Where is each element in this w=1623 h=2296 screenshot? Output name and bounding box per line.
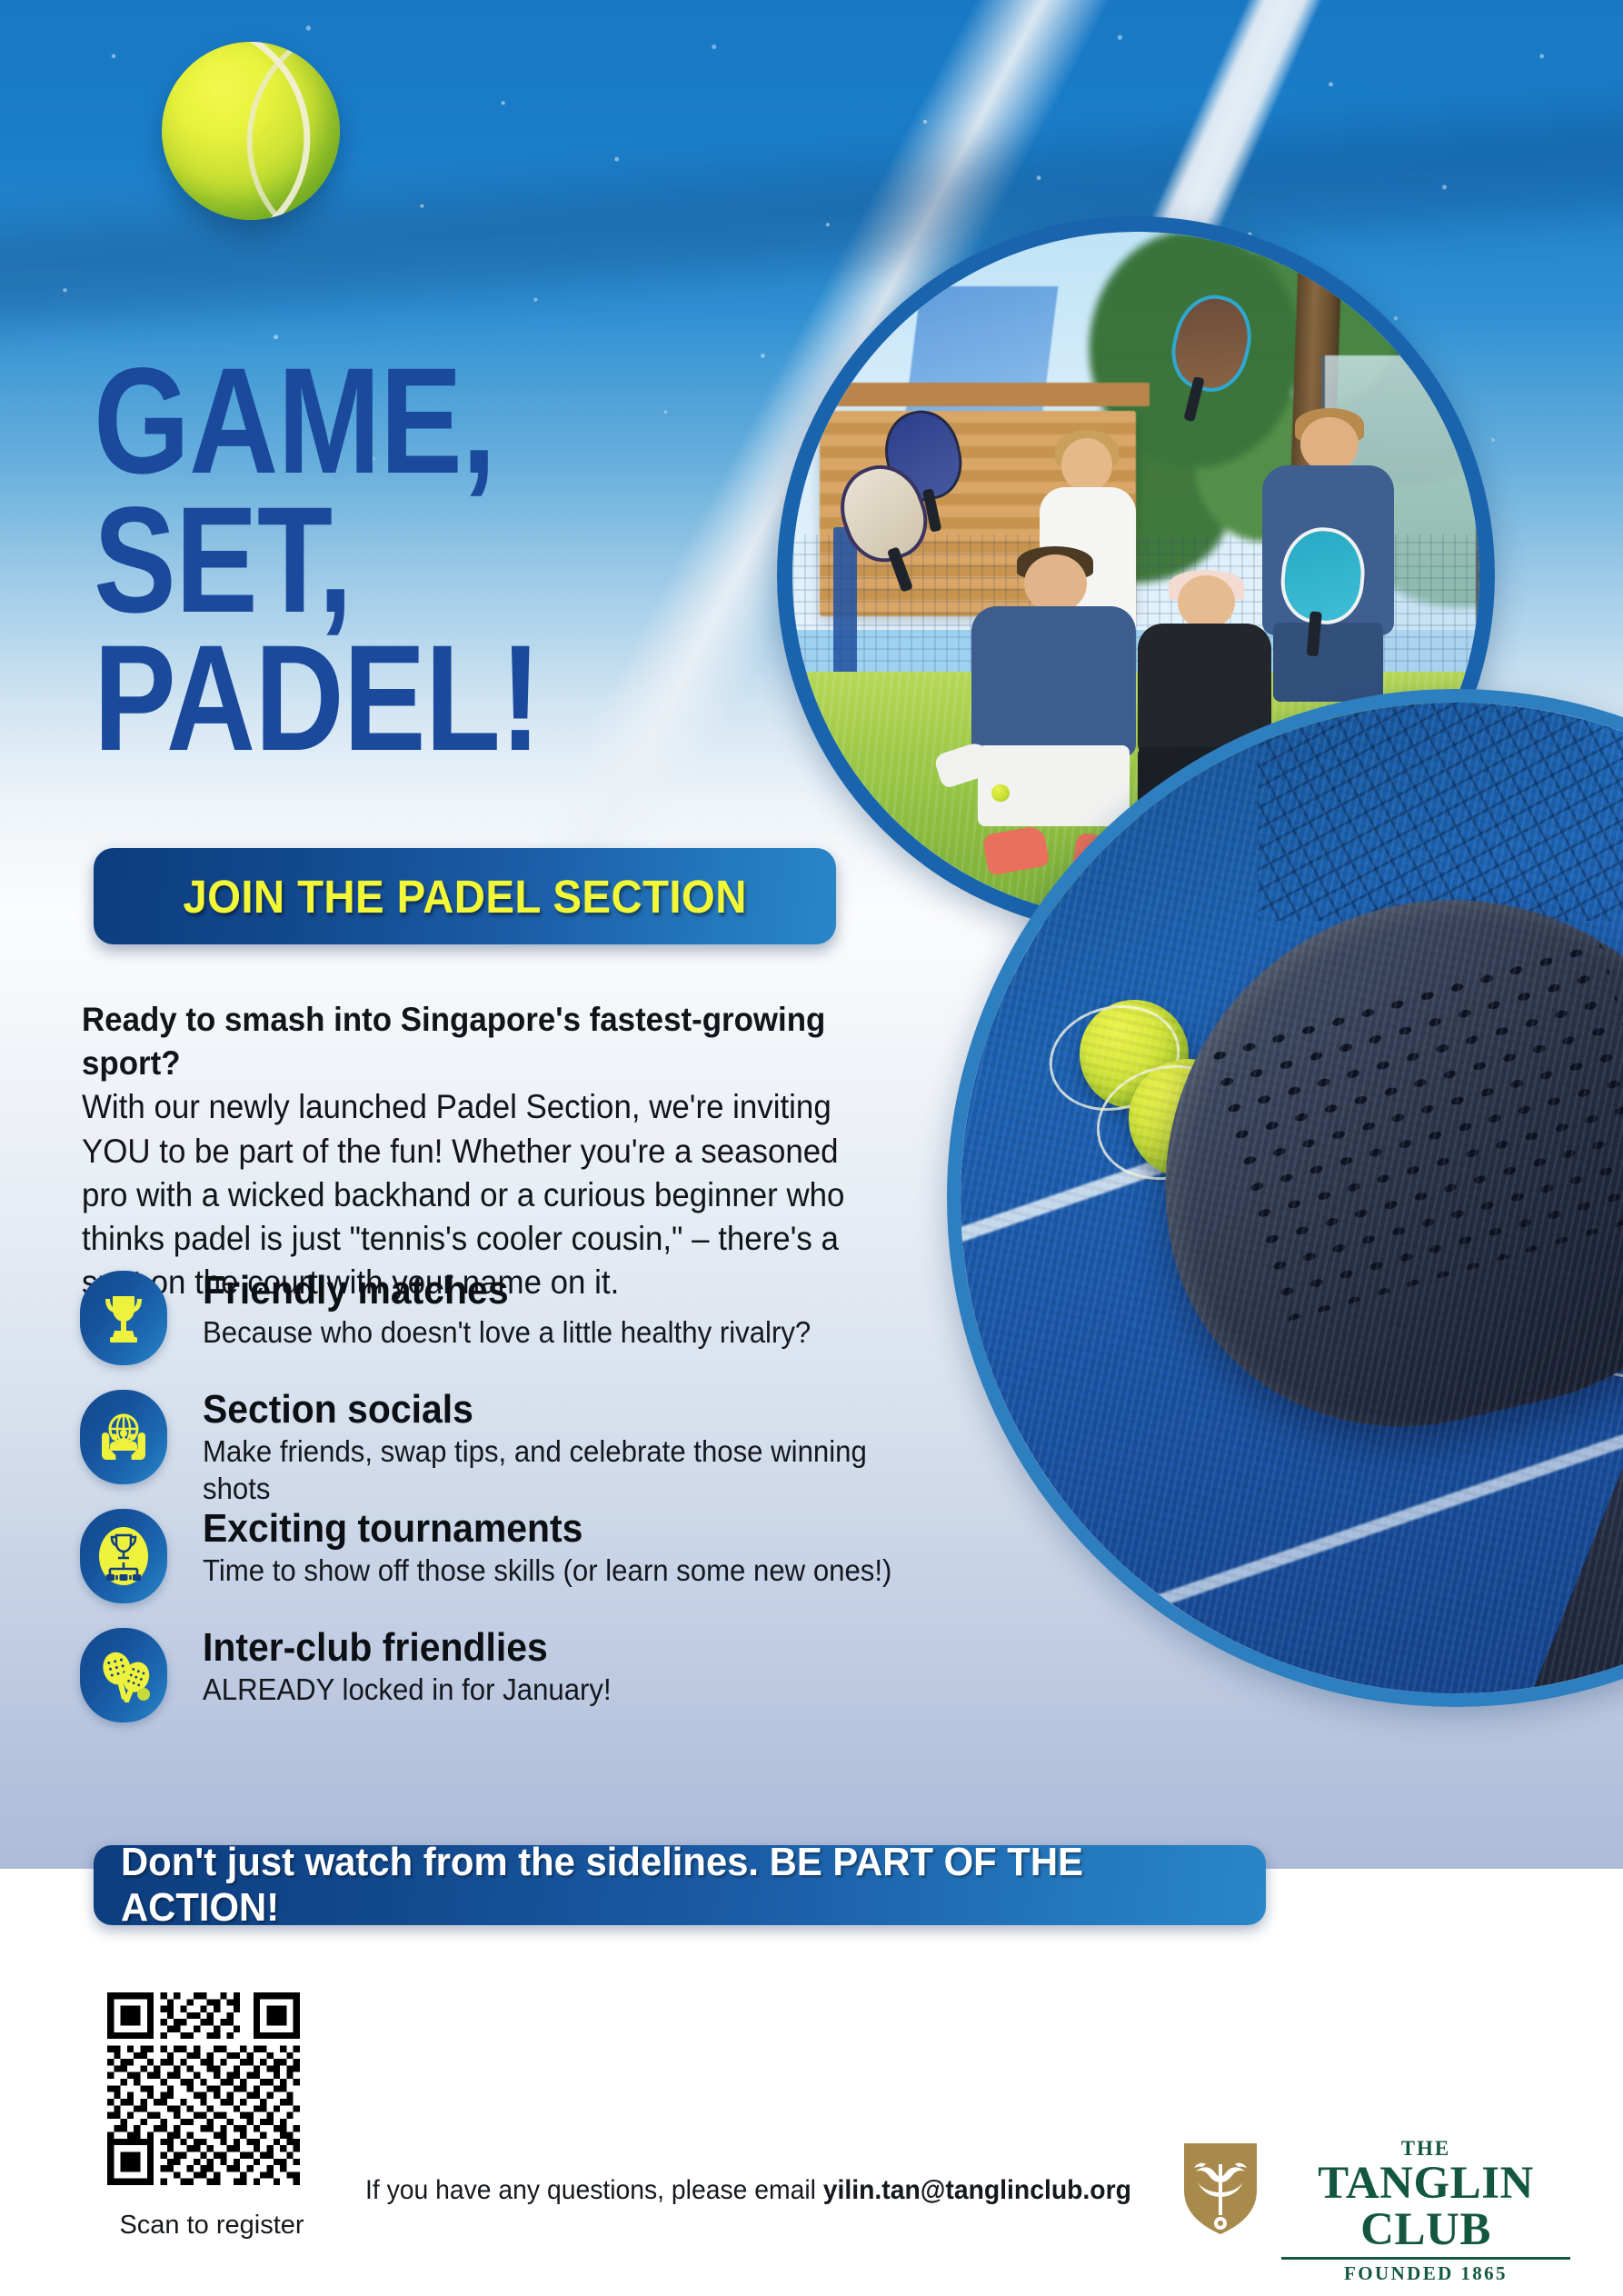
court-line-upper [961,830,1623,1263]
feature-desc: Time to show off those skills (or learn … [203,1553,891,1591]
racket-grip [1585,1561,1623,1693]
racket-holes [1200,933,1623,1324]
trophy-icon [80,1271,167,1365]
head [1300,417,1358,472]
qr-code-image [107,1992,300,2185]
page-title: GAME, SET, PADEL! [94,353,541,769]
feature-title: Inter-club friendlies [203,1624,612,1671]
cabin-roof [806,383,1150,406]
contact-prefix: If you have any questions, please email [365,2175,823,2205]
tennis-ball-7 [1605,1248,1623,1377]
padel-racket-photo [947,689,1623,1707]
feature-desc: ALREADY locked in for January! [203,1672,612,1710]
qr-code[interactable] [98,1983,309,2194]
list-item: Exciting tournaments Time to show off th… [80,1509,989,1628]
list-item: Section socials Make friends, swap tips,… [80,1390,989,1509]
banner-text: Don't just watch from the sidelines. BE … [121,1840,1209,1931]
tennis-ball-1 [1080,1000,1189,1109]
court-shadow [961,703,1623,1079]
poster-root: GAME, SET, PADEL! JOIN THE PADEL SECTION… [0,0,1623,2296]
contact-email[interactable]: yilin.tan@tanglinclub.org [823,2175,1131,2205]
club-crest-icon [1181,2141,1260,2237]
tournament-bracket-icon [80,1509,167,1603]
racket-teal [1275,524,1361,654]
head [1061,438,1112,492]
racket-neck [1518,1413,1623,1693]
tanglin-club-logo: THE TANGLIN CLUB FOUNDED 1865 [1181,2137,1572,2244]
logo-founded: FOUNDED 1865 [1276,2262,1576,2285]
contact-line: If you have any questions, please email … [365,2175,1131,2206]
racket-face [1108,843,1623,1473]
feature-title: Section socials [203,1386,933,1433]
tennis-ball-2 [1129,1059,1248,1178]
hands-globe-icon [80,1390,167,1484]
tennis-ball-icon [162,42,340,220]
court-net-shadow [1258,703,1623,921]
padel-racket [1108,843,1623,1473]
feature-text: Inter-club friendlies ALREADY locked in … [203,1624,612,1710]
feature-text: Exciting tournaments Time to show off th… [203,1505,891,1591]
join-padel-section-button[interactable]: JOIN THE PADEL SECTION [94,848,836,944]
feature-title: Exciting tournaments [203,1505,891,1552]
list-item: Inter-club friendlies ALREADY locked in … [80,1628,989,1747]
intro-paragraph: Ready to smash into Singapore's fastest-… [82,997,860,1303]
racket-photo-inner [961,703,1623,1693]
intro-lead: Ready to smash into Singapore's fastest-… [82,1000,825,1082]
list-item: Friendly matches Because who doesn't lov… [80,1271,989,1390]
feature-desc: Because who doesn't love a little health… [203,1315,811,1353]
court-line-lower [961,1266,1623,1693]
logo-text: THE TANGLIN CLUB FOUNDED 1865 [1276,2137,1576,2285]
feature-text: Section socials Make friends, swap tips,… [203,1386,933,1509]
feature-title: Friendly matches [203,1267,811,1313]
tennis-ball-seam [162,42,340,220]
feature-text: Friendly matches Because who doesn't lov… [203,1267,811,1353]
head [1178,575,1235,629]
call-to-action-banner: Don't just watch from the sidelines. BE … [94,1845,1266,1925]
logo-rule [1281,2257,1570,2260]
feature-list: Friendly matches Because who doesn't lov… [80,1271,989,1747]
padel-rackets-icon [80,1628,167,1722]
head [1024,554,1087,613]
logo-name: TANGLIN CLUB [1276,2161,1576,2253]
feature-desc: Make friends, swap tips, and celebrate t… [203,1434,933,1509]
qr-caption: Scan to register [98,2211,325,2241]
join-padel-section-label: JOIN THE PADEL SECTION [183,870,746,923]
